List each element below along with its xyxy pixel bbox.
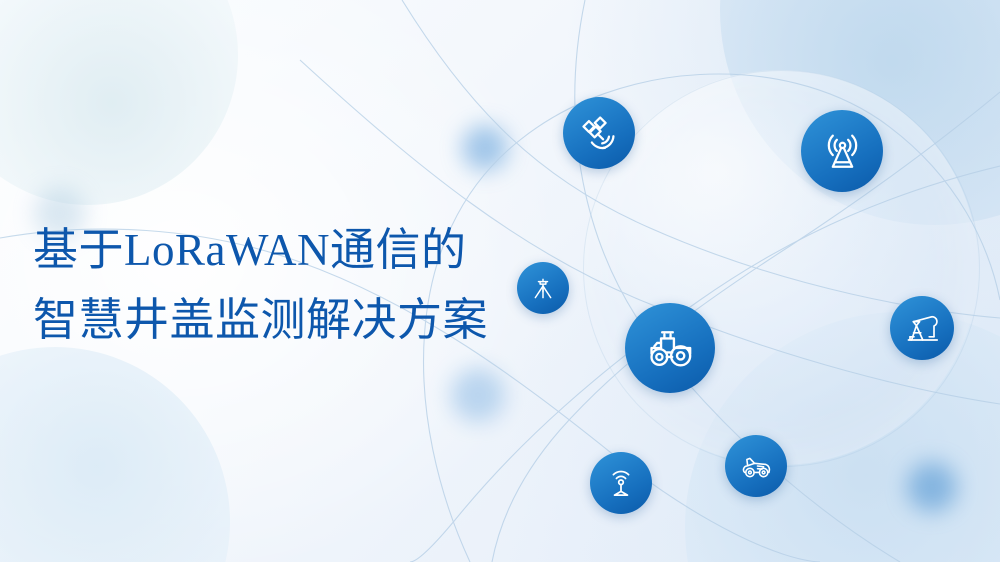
satellite-icon-glyph	[577, 111, 622, 156]
slide-title: 基于LoRaWAN通信的 智慧井盖监测解决方案	[33, 228, 488, 343]
title-line-2: 智慧井盖监测解决方案	[33, 298, 488, 343]
robot-vehicle-icon-glyph	[737, 447, 775, 485]
oil-pumpjack-icon[interactable]	[890, 296, 954, 360]
tractor-icon-glyph	[642, 320, 698, 376]
title-line-1: 基于LoRaWAN通信的	[33, 228, 488, 273]
robot-vehicle-icon[interactable]	[725, 435, 787, 497]
survey-tripod-icon-glyph	[527, 272, 559, 304]
radio-tower-icon-glyph	[817, 126, 868, 177]
sensor-beacon-icon[interactable]	[590, 452, 652, 514]
satellite-icon[interactable]	[563, 97, 635, 169]
oil-pumpjack-icon-glyph	[902, 308, 942, 348]
survey-tripod-icon[interactable]	[517, 262, 569, 314]
radio-tower-icon[interactable]	[801, 110, 883, 192]
tractor-icon[interactable]	[625, 303, 715, 393]
presentation-slide: 基于LoRaWAN通信的 智慧井盖监测解决方案	[0, 0, 1000, 562]
sensor-beacon-icon-glyph	[602, 464, 640, 502]
